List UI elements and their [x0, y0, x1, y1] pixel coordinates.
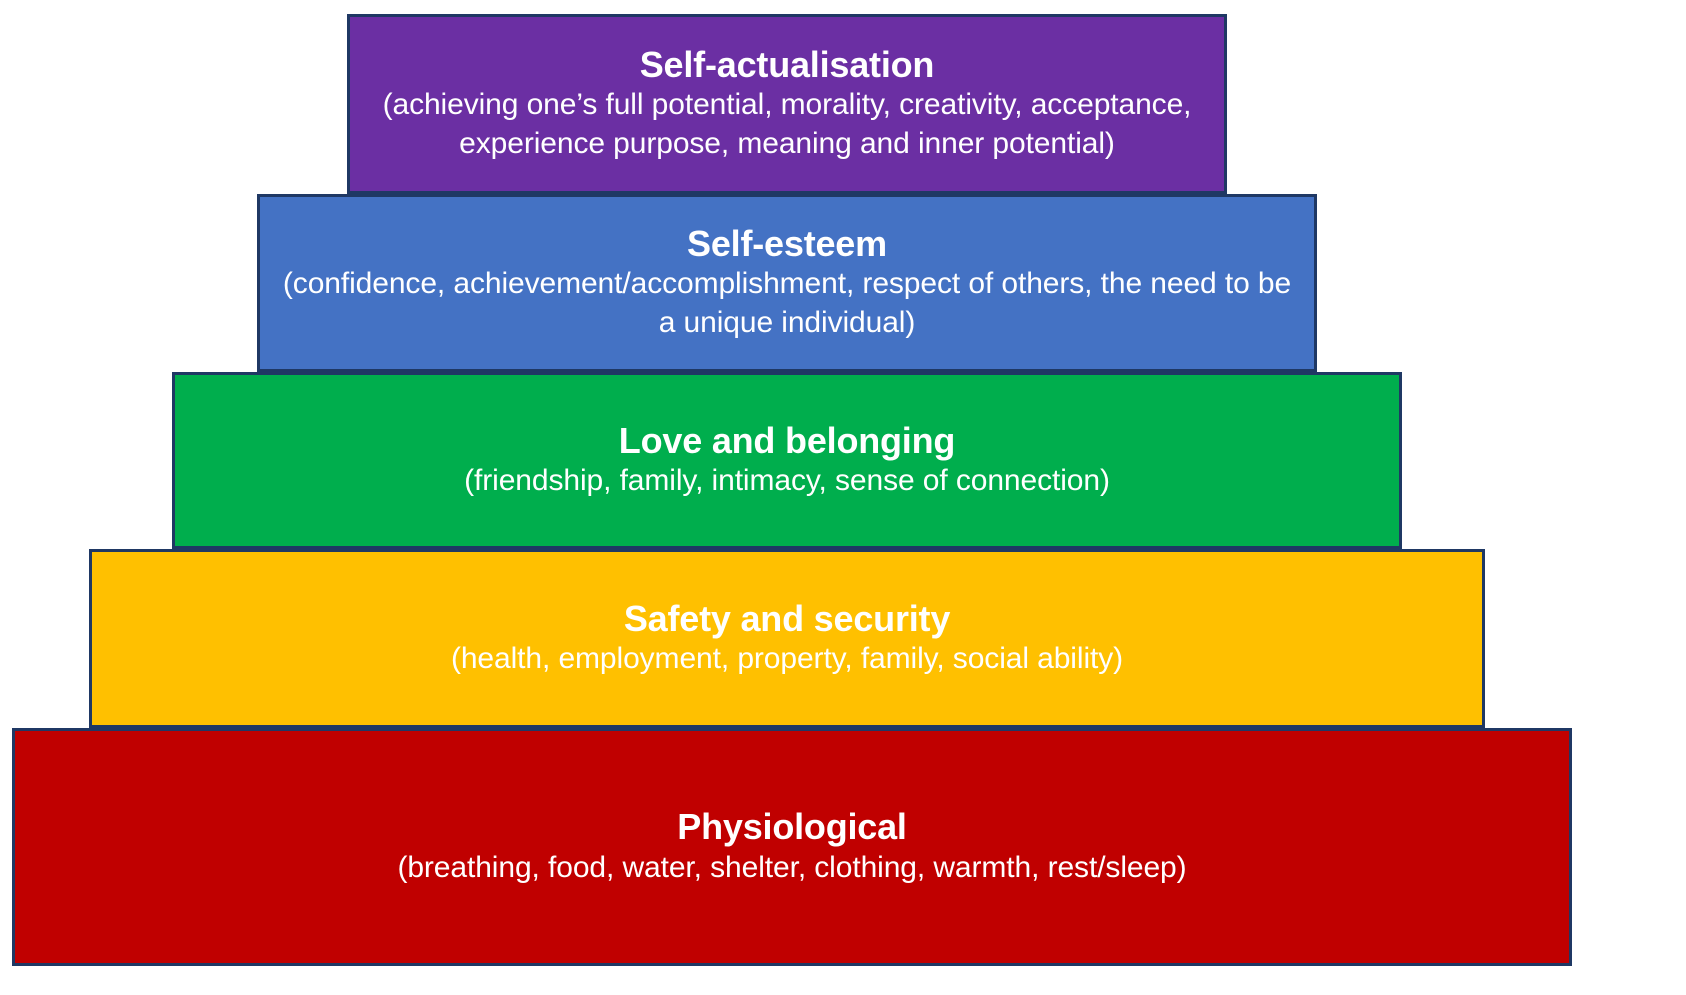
- tier-description-physiological: (breathing, food, water, shelter, clothi…: [397, 848, 1186, 887]
- pyramid-tier-physiological: Physiological (breathing, food, water, s…: [12, 728, 1572, 966]
- tier-title-physiological: Physiological: [677, 807, 906, 847]
- pyramid-tier-love-and-belonging: Love and belonging (friendship, family, …: [172, 372, 1402, 549]
- tier-description-self-esteem: (confidence, achievement/accomplishment,…: [272, 264, 1302, 342]
- tier-title-self-actualisation: Self-actualisation: [640, 45, 934, 85]
- tier-description-self-actualisation: (achieving one’s full potential, moralit…: [360, 85, 1214, 163]
- pyramid-tier-self-actualisation: Self-actualisation (achieving one’s full…: [347, 14, 1227, 194]
- pyramid-tier-safety-and-security: Safety and security (health, employment,…: [89, 549, 1485, 728]
- tier-title-safety-and-security: Safety and security: [624, 599, 950, 639]
- maslow-pyramid-diagram: Self-actualisation (achieving one’s full…: [0, 0, 1686, 995]
- tier-description-love-and-belonging: (friendship, family, intimacy, sense of …: [464, 461, 1110, 500]
- tier-title-self-esteem: Self-esteem: [687, 224, 887, 264]
- pyramid-tier-self-esteem: Self-esteem (confidence, achievement/acc…: [257, 194, 1317, 372]
- tier-description-safety-and-security: (health, employment, property, family, s…: [451, 639, 1123, 678]
- tier-title-love-and-belonging: Love and belonging: [619, 421, 955, 461]
